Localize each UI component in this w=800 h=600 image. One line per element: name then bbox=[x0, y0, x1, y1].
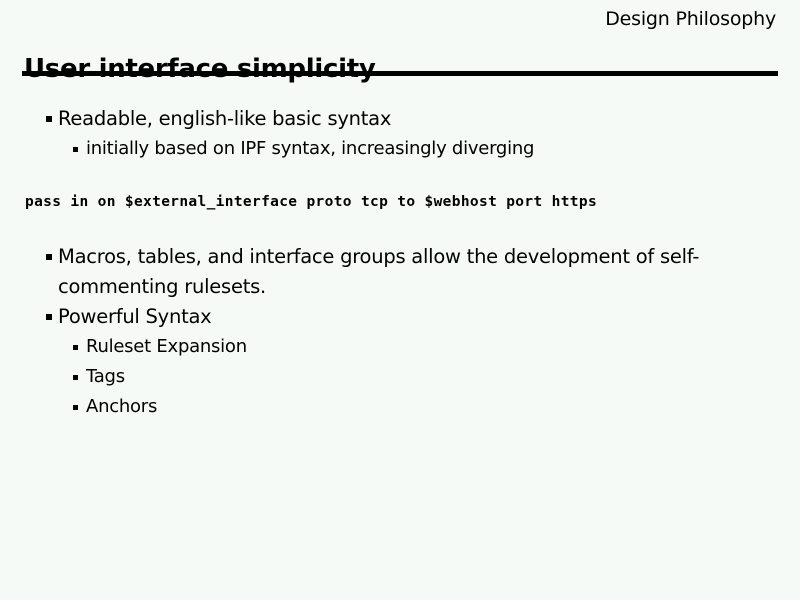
bullet-square-icon bbox=[46, 314, 52, 320]
list-item-label: initially based on IPF syntax, increasin… bbox=[86, 134, 800, 164]
bullet-square-icon bbox=[46, 254, 52, 260]
list-item-label: Macros, tables, and interface groups all… bbox=[58, 242, 800, 302]
list-item-label: Readable, english-like basic syntax bbox=[58, 104, 800, 134]
spacer-before-code bbox=[0, 164, 800, 192]
list-item-label: Ruleset Expansion bbox=[86, 332, 800, 362]
list-item: initially based on IPF syntax, increasin… bbox=[0, 134, 800, 164]
list-item: Powerful Syntax bbox=[0, 302, 800, 332]
bullet-square-icon bbox=[73, 345, 78, 350]
list-item: Readable, english-like basic syntax bbox=[0, 104, 800, 134]
list-item-label: Anchors bbox=[86, 392, 800, 422]
title-divider bbox=[22, 71, 778, 76]
bullet-list-primary: Readable, english-like basic syntax init… bbox=[0, 104, 800, 164]
list-item: Macros, tables, and interface groups all… bbox=[0, 242, 800, 302]
bullet-square-icon bbox=[73, 147, 78, 152]
list-item-label: Tags bbox=[86, 362, 800, 392]
bullet-square-icon bbox=[73, 405, 78, 410]
list-item: Tags bbox=[0, 362, 800, 392]
page-title: User interface simplicity bbox=[24, 53, 375, 85]
section-label: Design Philosophy bbox=[605, 8, 776, 30]
slide-canvas: Design Philosophy User interface simplic… bbox=[0, 0, 800, 600]
bullet-square-icon bbox=[46, 116, 52, 122]
bullet-square-icon bbox=[73, 375, 78, 380]
spacer-after-code bbox=[0, 212, 800, 242]
list-item: Ruleset Expansion bbox=[0, 332, 800, 362]
slide-body: Readable, english-like basic syntax init… bbox=[0, 104, 800, 422]
list-item-label: Powerful Syntax bbox=[58, 302, 800, 332]
code-example: pass in on $external_interface proto tcp… bbox=[0, 192, 800, 212]
list-item: Anchors bbox=[0, 392, 800, 422]
bullet-list-secondary: Macros, tables, and interface groups all… bbox=[0, 242, 800, 422]
